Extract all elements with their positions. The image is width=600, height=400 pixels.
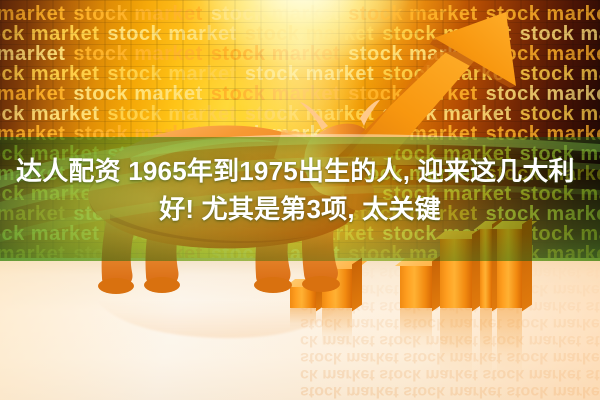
bar-6-reflection <box>497 308 522 378</box>
headline-line-1: 达人配资 1965年到1975出生的人, 迎来这几大利 <box>0 152 600 190</box>
bar-4-reflection <box>440 308 472 378</box>
headline: 达人配资 1965年到1975出生的人, 迎来这几大利 好! 尤其是第3项, 太… <box>0 152 600 228</box>
bull-reflection <box>60 296 380 400</box>
bar-3-reflection <box>400 308 432 351</box>
bar-face <box>400 265 432 308</box>
headline-line-2: 好! 尤其是第3项, 太关键 <box>0 190 600 228</box>
bar-5-reflection <box>480 308 492 378</box>
banner-image: stock marketstock marketstock marketstoc… <box>0 0 600 400</box>
bar-3 <box>400 265 432 308</box>
